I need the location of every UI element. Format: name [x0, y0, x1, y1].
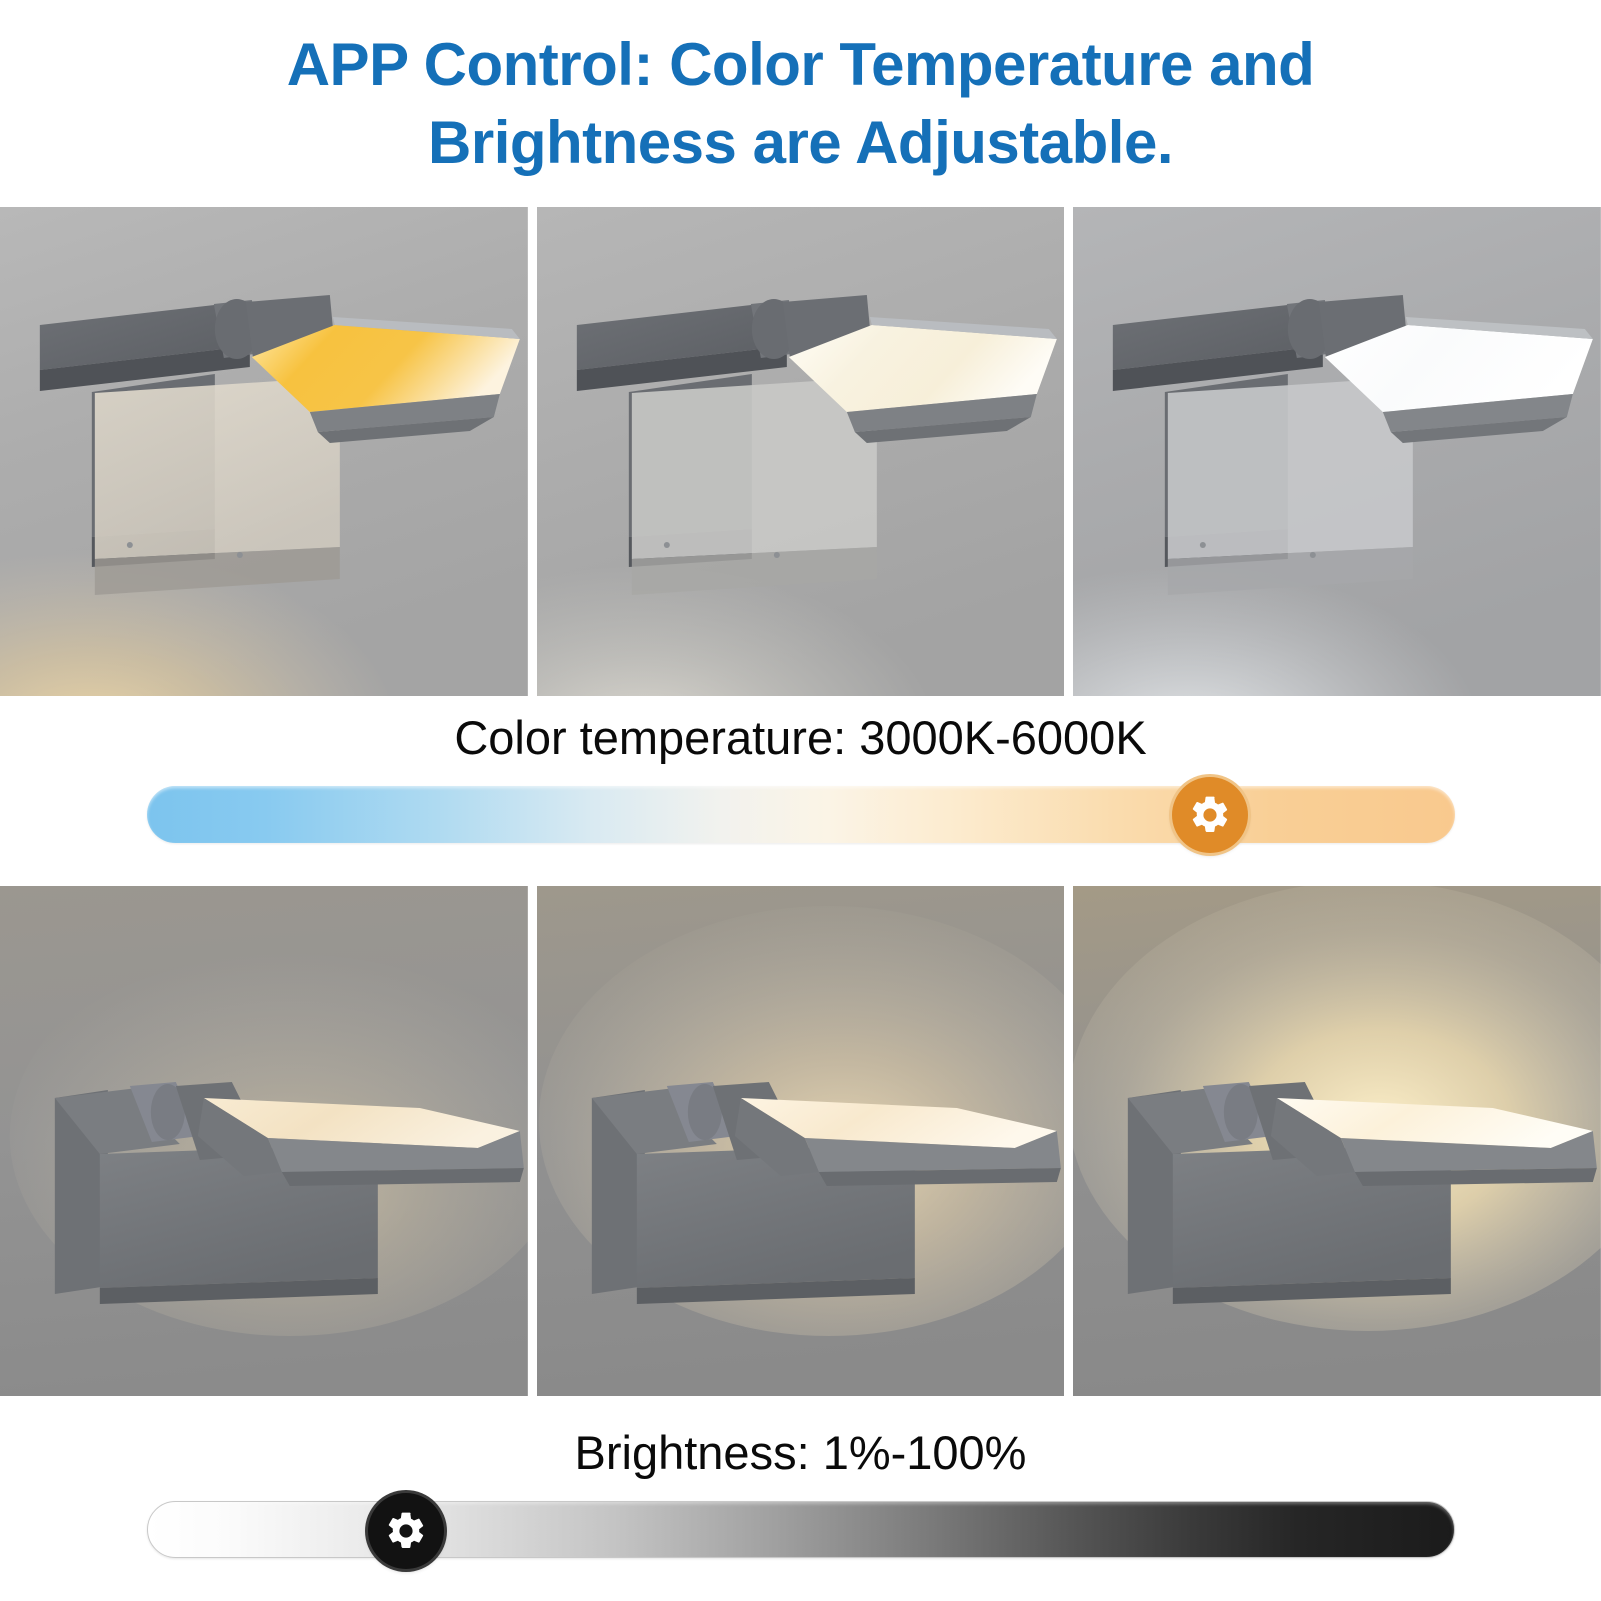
color-temperature-slider[interactable]: [147, 786, 1455, 843]
lamp-photo-brightness-medium: [537, 886, 1065, 1396]
brightness-slider[interactable]: [147, 1501, 1455, 1558]
brightness-photo-row: [0, 886, 1601, 1396]
page-title-line-2: Brightness are Adjustable.: [0, 104, 1601, 182]
color-temperature-photo-row: [0, 207, 1601, 696]
gear-icon: [384, 1509, 428, 1553]
infographic-page: APP Control: Color Temperature and Brigh…: [0, 0, 1601, 1601]
brightness-caption: Brightness: 1%-100%: [0, 1429, 1601, 1476]
page-title: APP Control: Color Temperature and Brigh…: [0, 26, 1601, 182]
lamp-photo-brightness-low: [0, 886, 528, 1396]
lamp-photo-cool-6000k: [1073, 207, 1601, 696]
color-temperature-caption: Color temperature: 3000K-6000K: [0, 714, 1601, 761]
lamp-photo-neutral-4500k: [537, 207, 1065, 696]
lamp-photo-brightness-high: [1073, 886, 1601, 1396]
color-temperature-slider-handle[interactable]: [1172, 777, 1248, 853]
brightness-slider-handle[interactable]: [368, 1493, 444, 1569]
gear-icon: [1188, 793, 1232, 837]
lamp-photo-warm-3000k: [0, 207, 528, 696]
page-title-line-1: APP Control: Color Temperature and: [0, 26, 1601, 104]
